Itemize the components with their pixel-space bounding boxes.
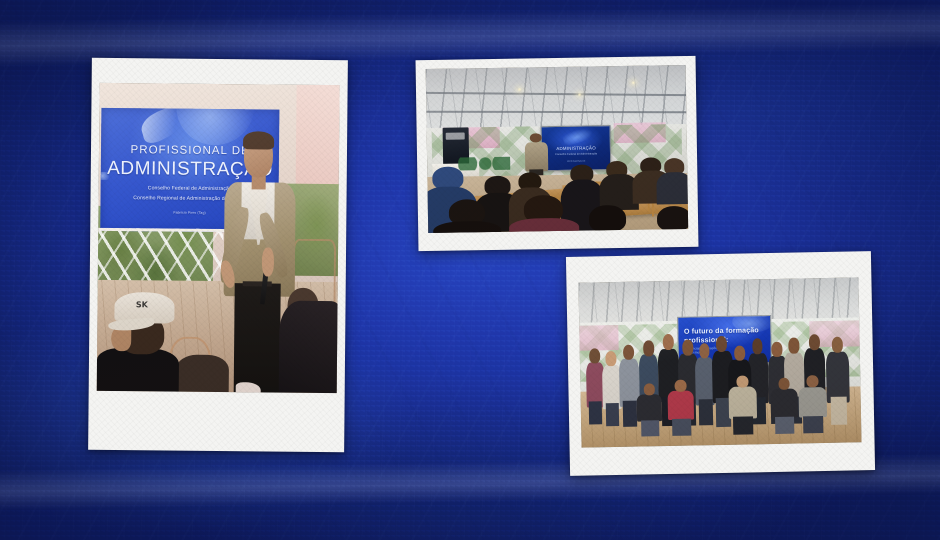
person-legs: [606, 403, 620, 426]
person-head: [831, 337, 843, 353]
speaker-hair: [243, 131, 274, 149]
group-person-front-presenter: [729, 375, 758, 435]
person-legs: [803, 416, 823, 434]
group-person-front: [799, 375, 828, 433]
person-legs: [623, 400, 638, 427]
photo-group: O futuro da formação profissional: tendê…: [578, 277, 861, 447]
screen-swoosh-icon: [561, 125, 593, 146]
polaroid-frame-speaker[interactable]: PROFISSIONAL DE ADMINISTRAÇÃO Conselho F…: [88, 58, 348, 452]
audience-head-foreground: [657, 206, 689, 231]
screen-line-1: ADMINISTRAÇÃO: [542, 145, 610, 151]
audience-body-left: [97, 348, 179, 392]
person-head: [699, 343, 710, 358]
person-top: [771, 389, 798, 419]
person-head: [778, 378, 790, 391]
polaroid-frame-group[interactable]: O futuro da formação profissional: tendê…: [566, 251, 875, 476]
person-legs: [830, 396, 847, 424]
person-head: [788, 338, 799, 354]
audience-silhouette-middle: [176, 355, 229, 392]
screen-headline-line1: O futuro da formação: [684, 327, 759, 336]
person-head: [808, 334, 820, 350]
speaker-hand-right: [262, 248, 274, 277]
person-legs: [698, 399, 713, 426]
audience-torso-foreground: [509, 218, 580, 233]
audience-torso: [656, 171, 688, 204]
person-head: [675, 380, 687, 393]
person-head: [734, 346, 745, 361]
speaker-jacket: [525, 142, 548, 172]
group-person-front: [667, 380, 695, 437]
person-head: [737, 375, 749, 388]
person-head: [606, 351, 617, 366]
screen-line-2: Conselho Federal de Administração: [542, 153, 610, 157]
person-head: [643, 341, 654, 357]
cap-logo-text: SK: [129, 300, 156, 316]
person-legs: [641, 420, 659, 436]
audience-head-foreground: [589, 205, 626, 232]
person-legs: [775, 417, 794, 434]
person-top: [667, 391, 694, 421]
person-head: [752, 339, 763, 355]
banner-logo: [445, 132, 465, 139]
person-top: [637, 394, 663, 422]
group-person: [826, 337, 850, 425]
photo-speaker: PROFISSIONAL DE ADMINISTRAÇÃO Conselho F…: [97, 83, 340, 393]
person-head: [682, 340, 693, 356]
speaker-trousers: [234, 283, 281, 392]
polaroid-frame-audience[interactable]: ADMINISTRAÇÃO Conselho Federal de Admini…: [416, 56, 699, 251]
person-head: [643, 384, 655, 396]
person-legs: [733, 417, 753, 435]
person-head: [807, 375, 819, 387]
group-person-front: [771, 378, 799, 435]
wall-panel-pink-left: [579, 325, 619, 350]
sponsor-logos: [458, 156, 510, 170]
person-top: [729, 386, 758, 419]
speaker-head: [530, 133, 542, 143]
person-head: [623, 344, 635, 360]
screen-swoosh2-icon: [140, 108, 188, 149]
person-legs: [672, 419, 691, 436]
audience-silhouette-right: [279, 300, 340, 393]
person-top: [799, 387, 828, 418]
group-person-front: [636, 383, 662, 436]
photo-audience: ADMINISTRAÇÃO Conselho Federal de Admini…: [426, 65, 689, 233]
person-head: [663, 334, 675, 351]
ceiling-lamp-icon: [517, 87, 522, 91]
person-head: [772, 341, 783, 356]
person-legs: [589, 401, 603, 424]
screen-line-3: PROFISSIONAL DE: [543, 160, 611, 163]
presentation-screen: ADMINISTRAÇÃO Conselho Federal de Admini…: [541, 125, 611, 171]
person-head: [589, 348, 601, 363]
person-top: [826, 352, 849, 403]
slide-canvas: PROFISSIONAL DE ADMINISTRAÇÃO Conselho F…: [0, 0, 940, 540]
